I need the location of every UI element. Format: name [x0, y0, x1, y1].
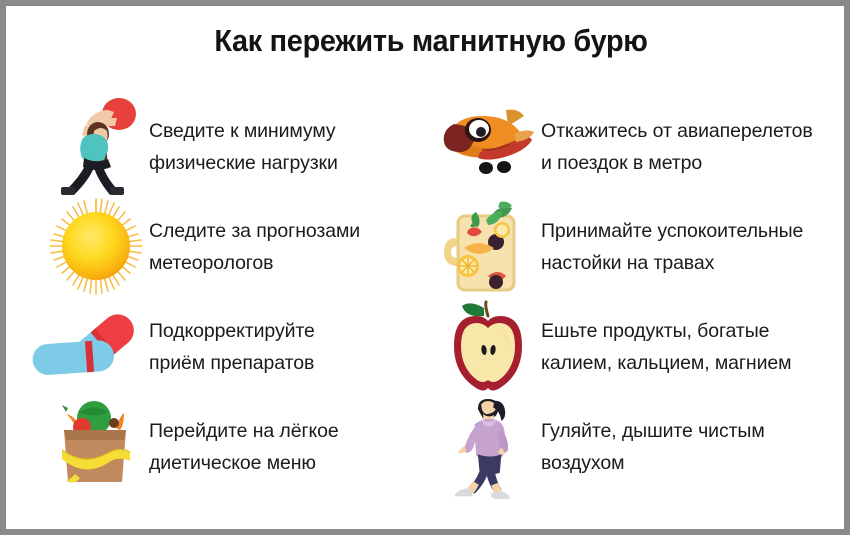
grocery-bag-with-measuring-tape-icon [42, 394, 150, 498]
tip-text: Ешьте продукты, богатые калием, кальцием… [541, 315, 850, 379]
woman-exercising-with-ball-icon [42, 94, 150, 198]
tip-item: Принимайте успокоительные настойки на тр… [426, 194, 845, 294]
pills-capsules-icon [42, 294, 150, 398]
tip-text: Перейдите на лёгкое диетическое меню [149, 415, 449, 479]
page-title: Как пережить магнитную бурю [36, 23, 827, 59]
tip-item: Откажитесь от авиаперелетов и поездок в … [426, 94, 845, 194]
tip-item: Перейдите на лёгкое диетическое меню [34, 394, 453, 494]
tip-item: Гуляйте, дышите чистым воздухом [426, 394, 845, 494]
tip-text: Сведите к минимуму физические нагрузки [149, 115, 449, 179]
tips-grid: Сведите к минимуму физические нагрузки [6, 94, 844, 534]
halved-apple-icon [434, 294, 542, 398]
tip-text: Откажитесь от авиаперелетов и поездок в … [541, 115, 850, 179]
sun-icon [42, 194, 150, 298]
tip-item: Подкорректируйте приём препаратов [34, 294, 453, 394]
tips-column-left: Сведите к минимуму физические нагрузки [34, 94, 453, 534]
tip-item: Ешьте продукты, богатые калием, кальцием… [426, 294, 845, 394]
herbal-infusion-mug-icon [434, 194, 542, 298]
tip-text: Подкорректируйте приём препаратов [149, 315, 449, 379]
tip-item: Следите за прогнозами метеорологов [34, 194, 453, 294]
cartoon-airplane-icon [434, 94, 542, 198]
walking-woman-icon [434, 394, 542, 498]
infographic-poster: Как пережить магнитную бурю [0, 0, 850, 535]
tip-text: Следите за прогнозами метеорологов [149, 215, 449, 279]
tip-text: Принимайте успокоительные настойки на тр… [541, 215, 850, 279]
tips-column-right: Откажитесь от авиаперелетов и поездок в … [426, 94, 845, 534]
tip-text: Гуляйте, дышите чистым воздухом [541, 415, 850, 479]
tip-item: Сведите к минимуму физические нагрузки [34, 94, 453, 194]
